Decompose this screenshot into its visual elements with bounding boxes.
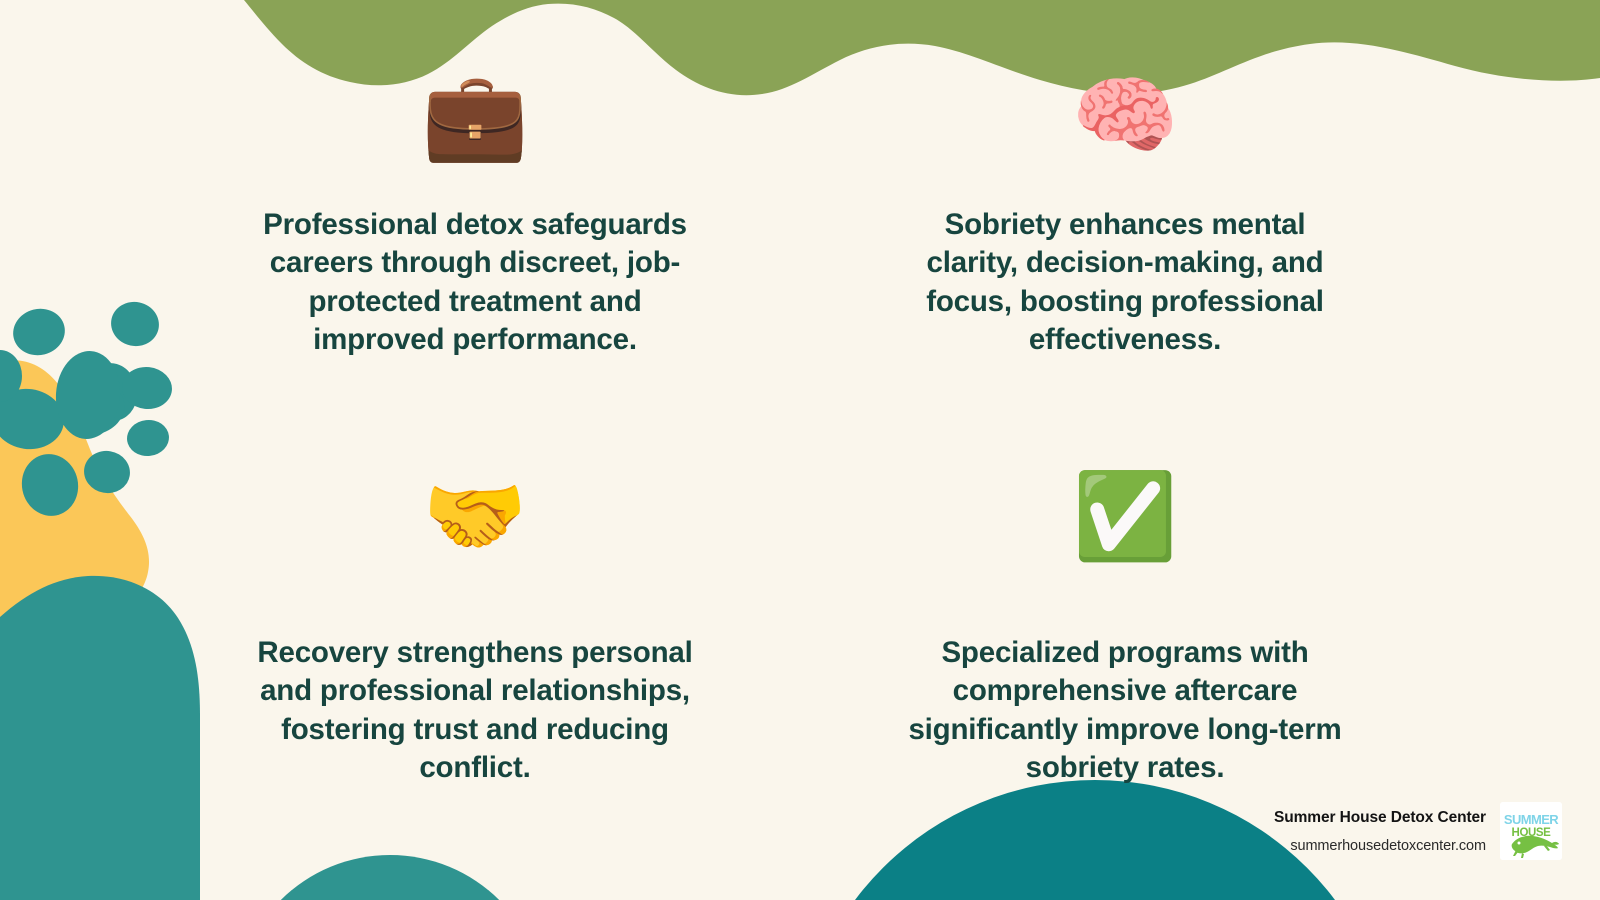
infographic-canvas: 💼 Professional detox safeguards careers … <box>0 0 1600 900</box>
brain-icon: 🧠 <box>1071 60 1178 172</box>
briefcase-icon: 💼 <box>421 60 528 172</box>
benefit-text-1: Professional detox safeguards careers th… <box>255 206 695 359</box>
brand-website-url[interactable]: summerhousedetoxcenter.com <box>1274 838 1486 854</box>
logo-text-summer: SUMMER <box>1504 812 1559 827</box>
benefit-text-2: Sobriety enhances mental clarity, decisi… <box>905 206 1345 359</box>
benefit-card-4: ✅ Specialized programs with comprehensiv… <box>800 460 1450 820</box>
benefit-card-2: 🧠 Sobriety enhances mental clarity, deci… <box>800 60 1450 460</box>
benefit-card-3: 🤝 Recovery strengthens personal and prof… <box>150 460 800 820</box>
benefit-grid: 💼 Professional detox safeguards careers … <box>0 0 1600 900</box>
check-mark-button-icon: ✅ <box>1073 460 1178 572</box>
summer-house-logo[interactable]: SUMMER HOUSE <box>1500 802 1562 860</box>
footer-branding: Summer House Detox Center summerhousedet… <box>1274 802 1562 860</box>
brand-name: Summer House Detox Center <box>1274 809 1486 827</box>
handshake-icon: 🤝 <box>423 460 528 572</box>
benefit-text-3: Recovery strengthens personal and profes… <box>255 634 695 787</box>
brand-text-block: Summer House Detox Center summerhousedet… <box>1274 809 1486 854</box>
benefit-card-1: 💼 Professional detox safeguards careers … <box>150 60 800 460</box>
benefit-text-4: Specialized programs with comprehensive … <box>905 634 1345 787</box>
